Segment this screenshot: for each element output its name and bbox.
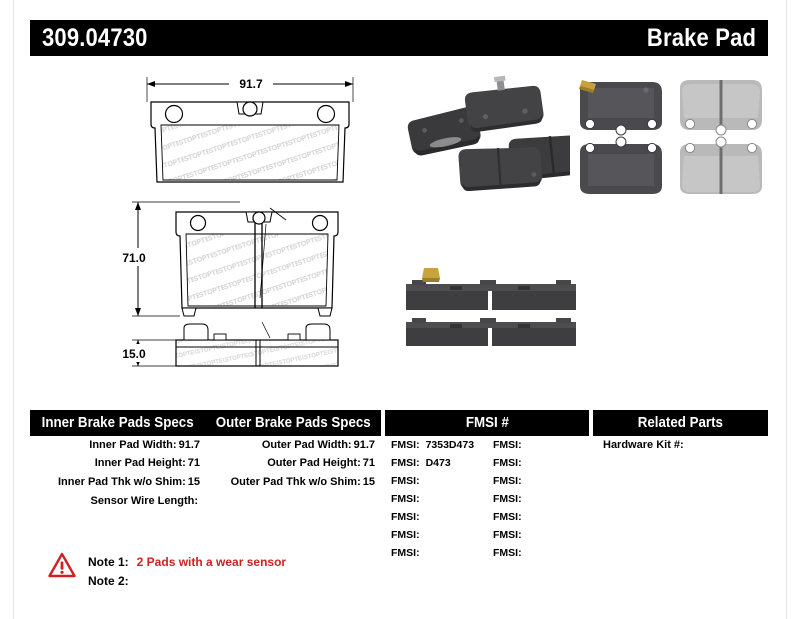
thickness-view-svg: STOPTECH 15.0 [110,320,375,380]
fmsi-label: FMSI: [391,529,420,541]
fmsi-value [522,457,528,469]
spec-label: Sensor Wire Length: [91,495,198,507]
fmsi-row: FMSI:D473 [385,454,487,472]
fmsi-row: FMSI:7353D473 [385,436,487,454]
fmsi-row: FMSI: [487,509,589,527]
svg-text:15.0: 15.0 [122,347,146,361]
spec-value: 15 [361,476,375,488]
fmsi-value [522,511,528,523]
brake-pad-set-front-back-photo [570,72,766,200]
grid-pads-svg [570,72,766,200]
spec-row: Inner Pad Width:91.7 [30,436,206,455]
fmsi-label: FMSI: [493,547,522,559]
part-number: 309.04730 [42,24,148,53]
svg-text:91.7: 91.7 [239,77,263,91]
fmsi-label: FMSI: [391,457,420,469]
related-parts-header-text: Related Parts [638,415,723,431]
fmsi-row: FMSI: [385,490,487,508]
fmsi-value [420,475,426,487]
spec-row: Outer Pad Height:71 [206,455,381,474]
spec-table-headers: Inner Brake Pads Specs Outer Brake Pads … [30,410,768,436]
height-view-svg: STOPTECH 71.0 [110,190,375,330]
spec-label: Inner Pad Height: [95,457,186,469]
spec-label: Outer Pad Thk w/o Shim: [231,476,361,488]
fmsi-label: FMSI: [391,493,420,505]
fmsi-label: FMSI: [493,511,522,523]
spec-label: Inner Pad Width: [89,439,176,451]
spec-row: Sensor Wire Length: [30,492,206,511]
notes-section: Note 1:2 Pads with a wear sensor Note 2: [48,552,286,590]
column-header-outer-specs: Outer Brake Pads Specs [206,410,381,436]
fmsi-column: FMSI:7353D473 FMSI:D473 FMSI: FMSI: FMSI… [385,436,589,563]
spec-row: Outer Pad Thk w/o Shim:15 [206,474,381,493]
fmsi-row: FMSI: [487,472,589,490]
related-part-row: Hardware Kit #: [593,436,768,453]
fmsi-value [420,529,426,541]
note-2-row: Note 2: [88,572,286,591]
spec-table: Inner Brake Pads Specs Outer Brake Pads … [30,410,768,436]
fmsi-value [420,547,426,559]
column-header-inner-specs: Inner Brake Pads Specs [30,410,206,436]
inner-specs-header-text: Inner Brake Pads Specs [42,415,194,431]
fmsi-row: FMSI: [385,472,487,490]
fmsi-value [420,493,426,505]
front-view-svg: STOPTECH 91.7 [125,62,375,192]
fmsi-value: 7353D473 [420,439,474,451]
fmsi-label: FMSI: [493,439,522,451]
related-parts-column: Hardware Kit #: [593,436,768,453]
fmsi-value [522,475,528,487]
fmsi-value [522,439,528,451]
angled-pads-svg [398,72,598,192]
fmsi-row: FMSI: [385,509,487,527]
note-2-text [129,574,137,588]
outer-specs-header-text: Outer Brake Pads Specs [216,415,371,431]
spec-value: 71 [361,457,375,469]
fmsi-value [522,529,528,541]
page-border-left [13,0,14,619]
note-1-label: Note 1: [88,555,129,569]
fmsi-value [522,547,528,559]
note-1-text: 2 Pads with a wear sensor [129,555,286,569]
warning-triangle-svg [48,552,76,578]
note-lines: Note 1:2 Pads with a wear sensor Note 2: [88,552,286,590]
column-header-related-parts: Related Parts [593,410,768,436]
spec-value [198,495,200,507]
header-bar: 309.04730 Brake Pad [30,20,768,56]
brake-pad-front-view-drawing: STOPTECH 91.7 [125,62,375,192]
fmsi-label: FMSI: [493,475,522,487]
related-part-label: Hardware Kit #: [603,439,684,451]
warning-triangle-icon [48,552,76,578]
fmsi-row: FMSI: [487,527,589,545]
spec-value: 91.7 [352,439,375,451]
fmsi-label: FMSI: [391,511,420,523]
fmsi-row: FMSI: [487,436,589,454]
spec-row: Outer Pad Width:91.7 [206,436,381,455]
edge-pads-svg [400,252,590,362]
spec-label: Outer Pad Width: [262,439,352,451]
fmsi-row: FMSI: [385,545,487,563]
fmsi-row: FMSI: [385,527,487,545]
spec-value: 15 [186,476,200,488]
fmsi-label: FMSI: [391,475,420,487]
product-type: Brake Pad [647,24,756,53]
outer-specs-column: Outer Pad Width:91.7 Outer Pad Height:71… [206,436,381,492]
fmsi-label: FMSI: [391,547,420,559]
fmsi-label: FMSI: [493,493,522,505]
svg-text:71.0: 71.0 [122,251,146,265]
fmsi-row: FMSI: [487,490,589,508]
note-1-row: Note 1:2 Pads with a wear sensor [88,553,286,572]
spec-value: 91.7 [177,439,200,451]
brake-pad-set-angled-photo [398,72,598,192]
spec-value: 71 [186,457,200,469]
product-spec-sheet: 309.04730 Brake Pad STOPTECH 91. [0,0,800,619]
column-header-fmsi: FMSI # [385,410,589,436]
fmsi-subcolumn-left: FMSI:7353D473 FMSI:D473 FMSI: FMSI: FMSI… [385,436,487,563]
fmsi-row: FMSI: [487,454,589,472]
fmsi-header-text: FMSI # [465,415,508,431]
fmsi-label: FMSI: [493,529,522,541]
fmsi-row: FMSI: [487,545,589,563]
fmsi-value: D473 [420,457,451,469]
fmsi-value [522,493,528,505]
inner-specs-column: Inner Pad Width:91.7 Inner Pad Height:71… [30,436,206,511]
fmsi-subcolumn-right: FMSI: FMSI: FMSI: FMSI: FMSI: [487,436,589,563]
spec-label: Outer Pad Height: [267,457,361,469]
spec-label: Inner Pad Thk w/o Shim: [58,476,186,488]
brake-pad-thickness-view-drawing: STOPTECH 15.0 [110,320,375,380]
spec-row: Inner Pad Height:71 [30,455,206,474]
page-border-right [786,0,787,619]
brake-pad-height-view-drawing: STOPTECH 71.0 [110,190,375,330]
spec-row: Inner Pad Thk w/o Shim:15 [30,474,206,493]
note-2-label: Note 2: [88,574,129,588]
illustration-area: STOPTECH 91.7 [30,62,768,387]
fmsi-label: FMSI: [493,457,522,469]
brake-pad-edge-pair-photo [400,252,590,362]
fmsi-value [420,511,426,523]
fmsi-label: FMSI: [391,439,420,451]
